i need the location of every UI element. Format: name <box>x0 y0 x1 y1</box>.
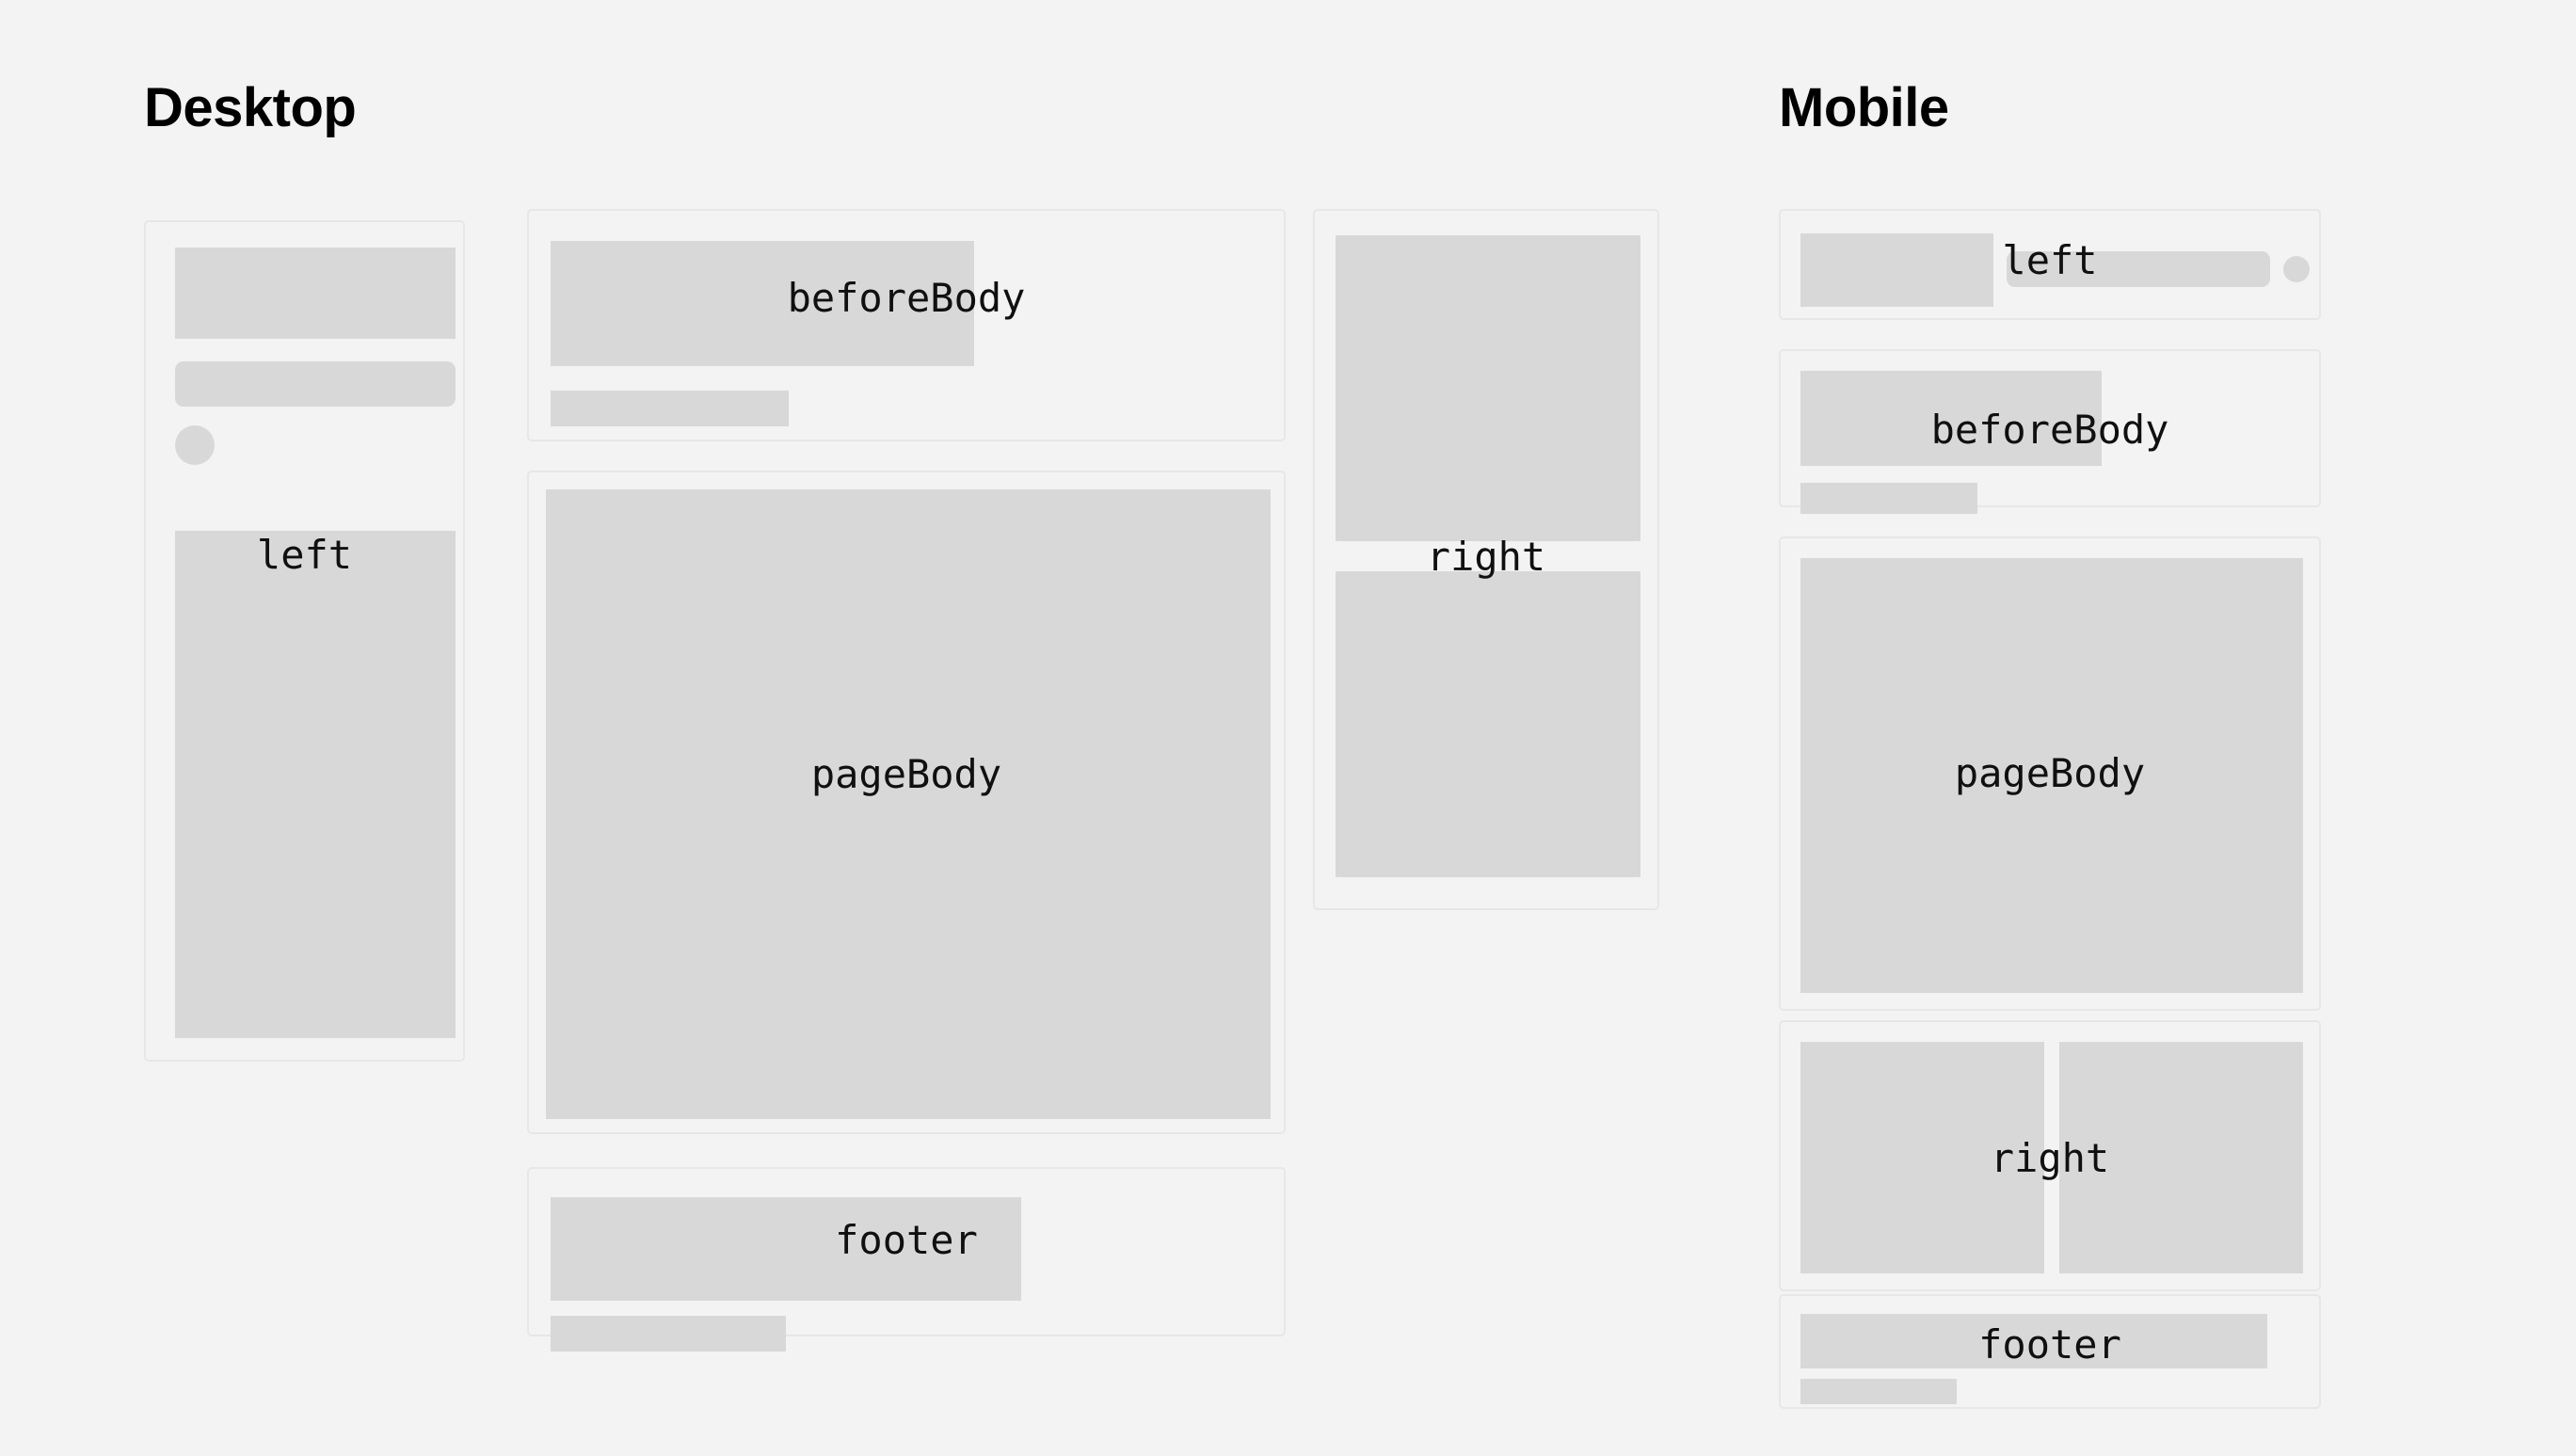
placeholder-block <box>1336 235 1640 541</box>
placeholder-bar <box>1800 483 1977 514</box>
placeholder-bar <box>551 391 789 426</box>
desktop-left-panel[interactable] <box>144 220 465 1062</box>
mobile-pagebody-panel[interactable] <box>1779 536 2321 1011</box>
placeholder-block <box>1800 1314 2267 1368</box>
placeholder-avatar-circle <box>2283 256 2310 282</box>
placeholder-bar <box>551 1316 786 1352</box>
desktop-beforebody-panel[interactable] <box>527 209 1286 441</box>
desktop-section-title: Desktop <box>144 81 356 136</box>
mobile-beforebody-panel[interactable] <box>1779 349 2321 507</box>
placeholder-bar <box>175 361 456 407</box>
placeholder-bar <box>2007 251 2270 287</box>
placeholder-block <box>1336 571 1640 877</box>
placeholder-block-large <box>546 489 1271 1119</box>
placeholder-block <box>1800 1042 2044 1273</box>
mobile-section-title: Mobile <box>1779 81 1949 136</box>
mobile-footer-panel[interactable] <box>1779 1294 2321 1409</box>
desktop-right-panel[interactable] <box>1313 209 1659 910</box>
mobile-right-panel[interactable] <box>1779 1020 2321 1291</box>
placeholder-block-large <box>1800 558 2303 993</box>
placeholder-avatar-circle <box>175 425 215 465</box>
placeholder-block <box>2059 1042 2303 1273</box>
placeholder-block <box>551 1197 1021 1301</box>
mobile-left-panel[interactable] <box>1779 209 2321 320</box>
placeholder-block <box>175 248 456 339</box>
desktop-footer-panel[interactable] <box>527 1167 1286 1336</box>
desktop-pagebody-panel[interactable] <box>527 471 1286 1134</box>
placeholder-block <box>551 241 974 366</box>
placeholder-bar <box>1800 1379 1957 1404</box>
responsive-layout-preview: Desktop left beforeBody pageBody right f… <box>0 0 2576 1456</box>
placeholder-block <box>1800 371 2102 466</box>
placeholder-block-tall <box>175 531 456 1038</box>
placeholder-block <box>1800 233 1993 307</box>
